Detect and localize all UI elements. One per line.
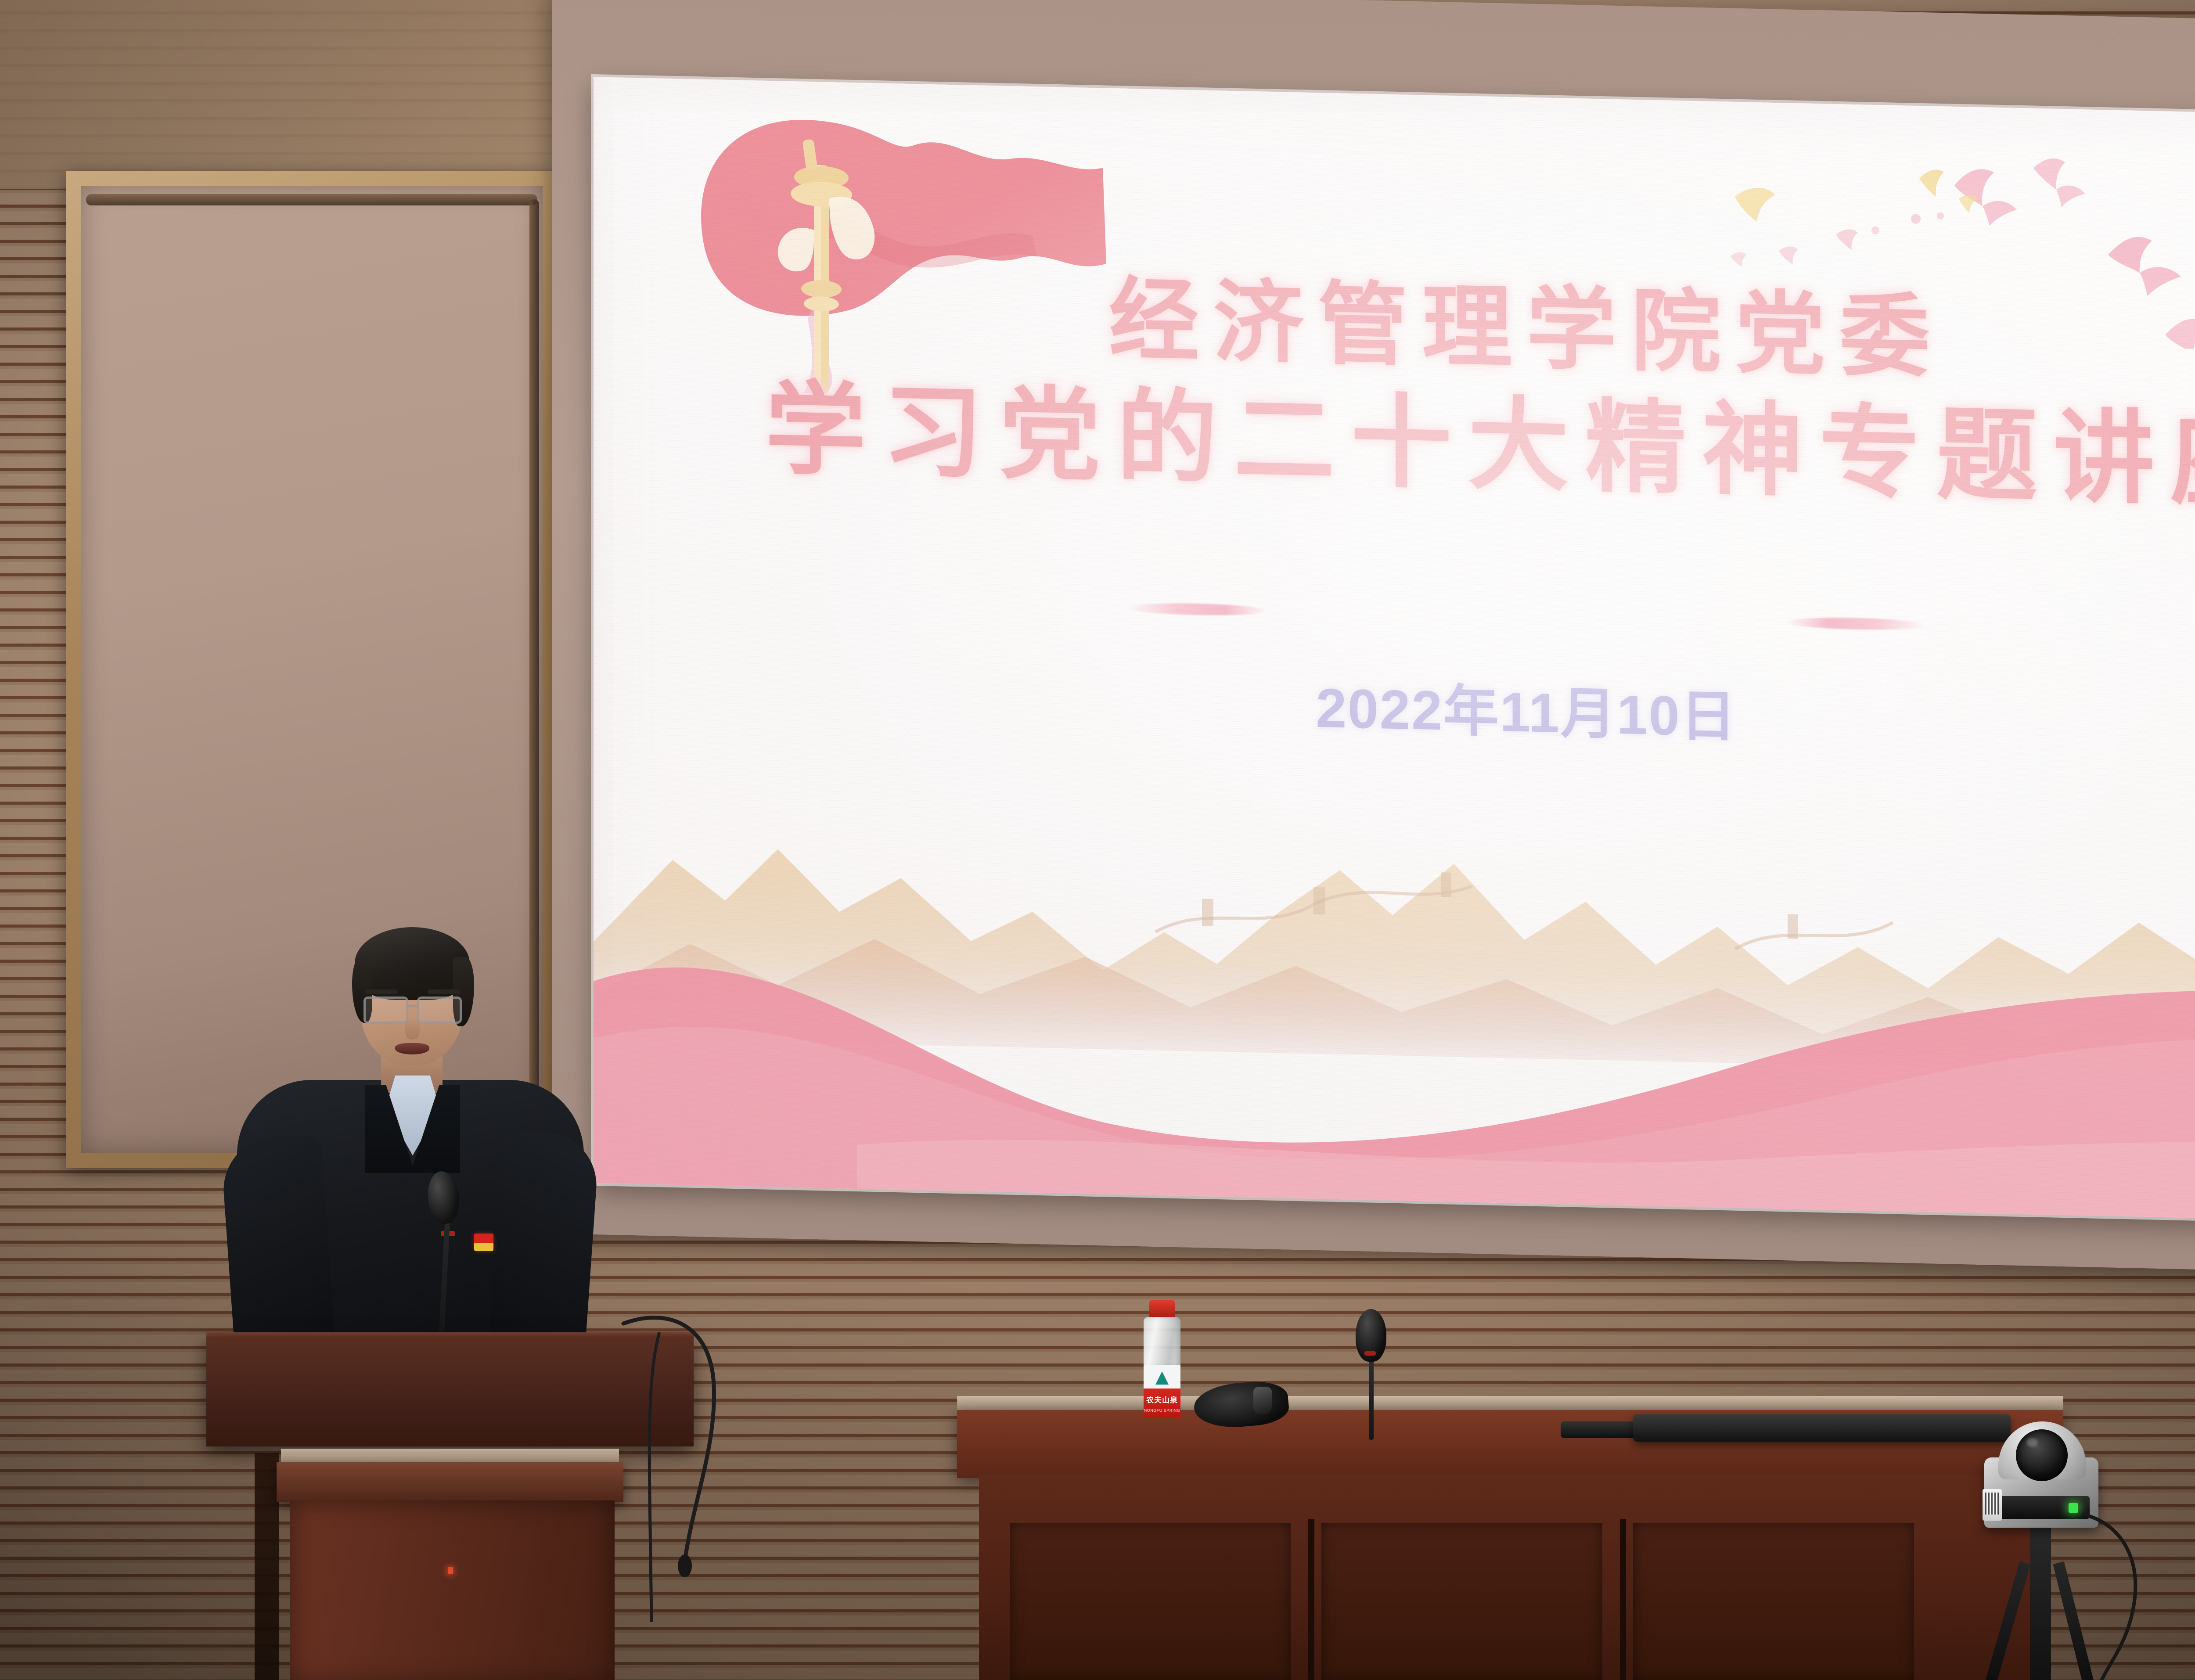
photo-scene: 经济管理学院党委 学习党的二十大精神专题讲座 2022年11月10日 <box>0 0 2195 1680</box>
speaker-mouth <box>395 1043 429 1054</box>
cpc-emblem-icon <box>2165 923 2195 1112</box>
lectern-shelf <box>277 1462 623 1502</box>
water-bottle-label: 农夫山泉 NONGFU SPRING <box>1144 1365 1180 1418</box>
eyeglasses-right-lens-icon <box>417 996 462 1024</box>
hammer-sickle-svg <box>2165 923 2195 1112</box>
camera-status-led <box>2069 1503 2078 1513</box>
slide-title-block: 经济管理学院党委 学习党的二十大精神专题讲座 <box>594 261 2195 523</box>
brush-divider-row <box>594 590 2195 643</box>
projection-screen: 经济管理学院党委 学习党的二十大精神专题讲座 2022年11月10日 <box>594 77 2195 1224</box>
table-microphone-indicator-ring <box>1364 1351 1376 1356</box>
party-emblem-lapel-pin-icon <box>474 1234 493 1251</box>
eyeglasses-bridge-icon <box>407 1005 418 1007</box>
lectern-side-shadow <box>255 1453 279 1680</box>
pink-wave-graphic <box>594 849 2195 1224</box>
black-accessory-clip <box>1253 1387 1272 1414</box>
camera-lens-highlight <box>2026 1438 2038 1447</box>
speaker-at-lectern <box>211 931 606 1374</box>
speaker-left-eyebrow <box>365 989 398 994</box>
table-panel-seam-1 <box>1308 1519 1314 1680</box>
speaker-nose <box>405 1017 420 1040</box>
whiteboard-top-rail <box>86 194 537 205</box>
brush-stroke-right-icon <box>1785 616 1926 631</box>
slide-title-line2: 学习党的二十大精神专题讲座 <box>594 369 2195 522</box>
lectern-indicator-led <box>448 1567 453 1574</box>
water-bottle-brand-en: NONGFU SPRING <box>1144 1408 1180 1413</box>
table-front-panel-mid <box>1321 1523 1602 1680</box>
table-front-panel-left <box>1010 1523 1291 1680</box>
waves-svg <box>594 849 2195 1224</box>
water-drop-icon <box>1155 1371 1169 1385</box>
speaker-right-eyebrow <box>428 989 460 994</box>
av-device-extension <box>1561 1421 1642 1438</box>
lectern-top-surface <box>206 1337 694 1446</box>
brush-stroke-left-icon <box>1127 602 1267 617</box>
lectern-column <box>290 1500 615 1680</box>
camera-lens-icon <box>2016 1429 2068 1481</box>
water-bottle-brand-cn: 农夫山泉 <box>1144 1394 1180 1405</box>
black-av-device <box>1633 1414 2011 1442</box>
table-panel-seam-2 <box>1620 1519 1626 1680</box>
table-front-panel-right <box>1633 1523 1914 1680</box>
eyeglasses-left-lens-icon <box>363 996 408 1024</box>
barcode-icon <box>1985 1493 1999 1515</box>
water-bottle-cap <box>1149 1300 1175 1318</box>
tripod-column <box>2030 1519 2051 1680</box>
